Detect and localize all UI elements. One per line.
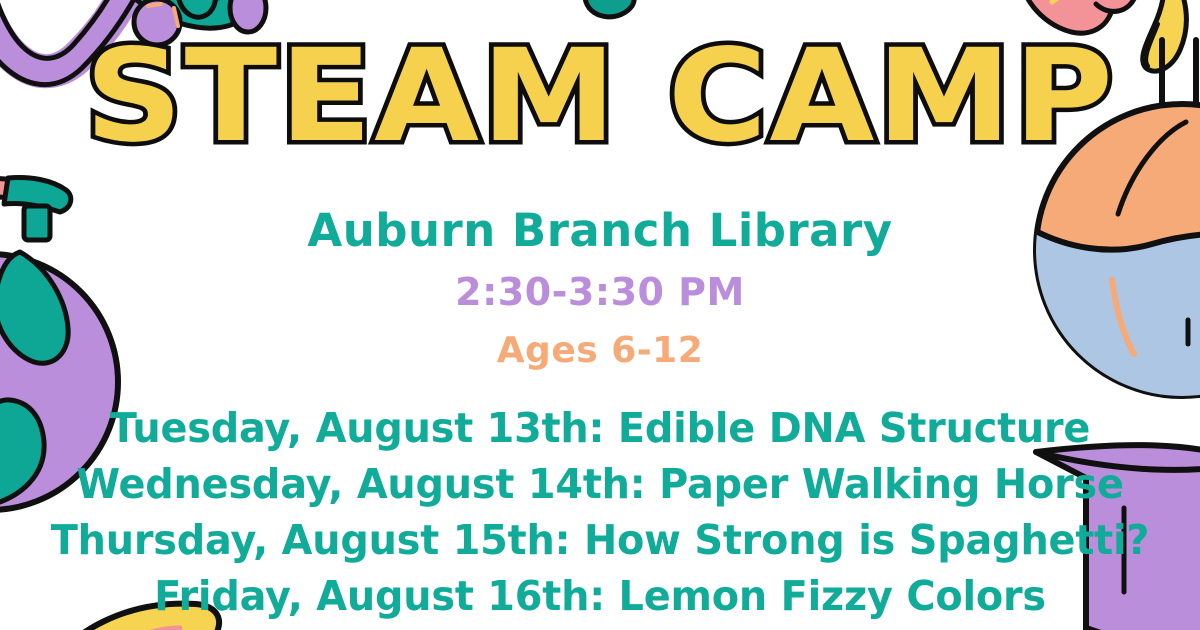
steam-camp-poster: STEAM CAMP Auburn Branch Library 2:30-3:… — [0, 0, 1200, 630]
schedule-item: Friday, August 16th: Lemon Fizzy Colors — [18, 568, 1182, 624]
age-range: Ages 6-12 — [0, 330, 1200, 372]
poster-content: STEAM CAMP Auburn Branch Library 2:30-3:… — [0, 0, 1200, 630]
event-time: 2:30-3:30 PM — [0, 270, 1200, 314]
page-title: STEAM CAMP — [0, 22, 1200, 172]
schedule-list: Tuesday, August 13th: Edible DNA Structu… — [0, 400, 1200, 624]
schedule-item: Thursday, August 15th: How Strong is Spa… — [18, 512, 1182, 568]
schedule-item: Wednesday, August 14th: Paper Walking Ho… — [18, 456, 1182, 512]
schedule-item: Tuesday, August 13th: Edible DNA Structu… — [18, 400, 1182, 456]
venue-name: Auburn Branch Library — [0, 205, 1200, 257]
